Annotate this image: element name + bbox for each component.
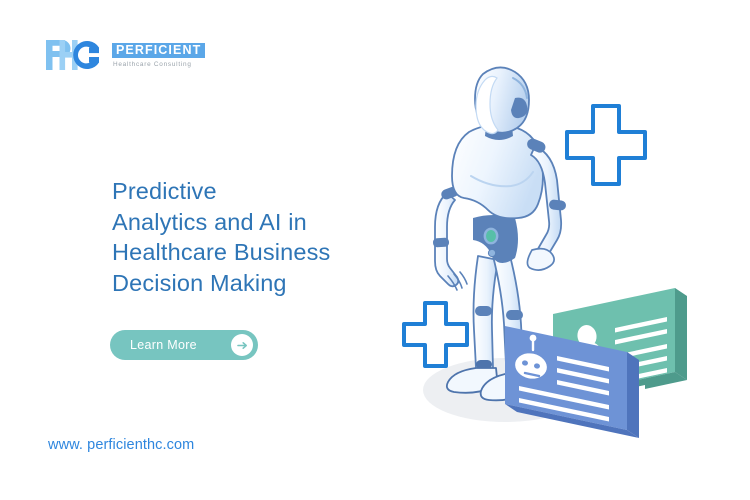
headline-line-1: Predictive — [112, 176, 412, 207]
robot-joint-knee-left — [475, 306, 492, 316]
patient-card-side — [675, 288, 687, 380]
brand-logo[interactable]: PERFICIENT Healthcare Consulting — [45, 38, 205, 72]
brand-name: PERFICIENT — [112, 43, 205, 58]
learn-more-label: Learn More — [130, 338, 211, 352]
headline-line-3: Healthcare Business — [112, 237, 412, 268]
headline-line-2: Analytics and AI in — [112, 207, 412, 238]
robot-hand-right — [527, 249, 554, 270]
robot-joint-knee-right — [506, 310, 523, 320]
arrow-right-icon — [231, 334, 253, 356]
phc-logo-mark — [45, 38, 103, 72]
brand-wordmark: PERFICIENT Healthcare Consulting — [112, 41, 205, 69]
chatbot-card-side — [627, 352, 639, 438]
medical-cross-small — [404, 303, 467, 366]
brand-tagline: Healthcare Consulting — [112, 61, 205, 69]
learn-more-button[interactable]: Learn More — [110, 330, 258, 360]
website-url[interactable]: www. perficienthc.com — [48, 437, 194, 453]
headline-line-4: Decision Making — [112, 268, 412, 299]
hero-illustration — [375, 60, 715, 460]
medical-cross-large — [567, 106, 645, 184]
chest-indicator-icon — [488, 249, 495, 256]
marketing-banner: PERFICIENT Healthcare Consulting Predict… — [0, 0, 750, 500]
page-title: Predictive Analytics and AI in Healthcar… — [112, 176, 412, 298]
robot-joint-elbow-left — [433, 238, 449, 248]
